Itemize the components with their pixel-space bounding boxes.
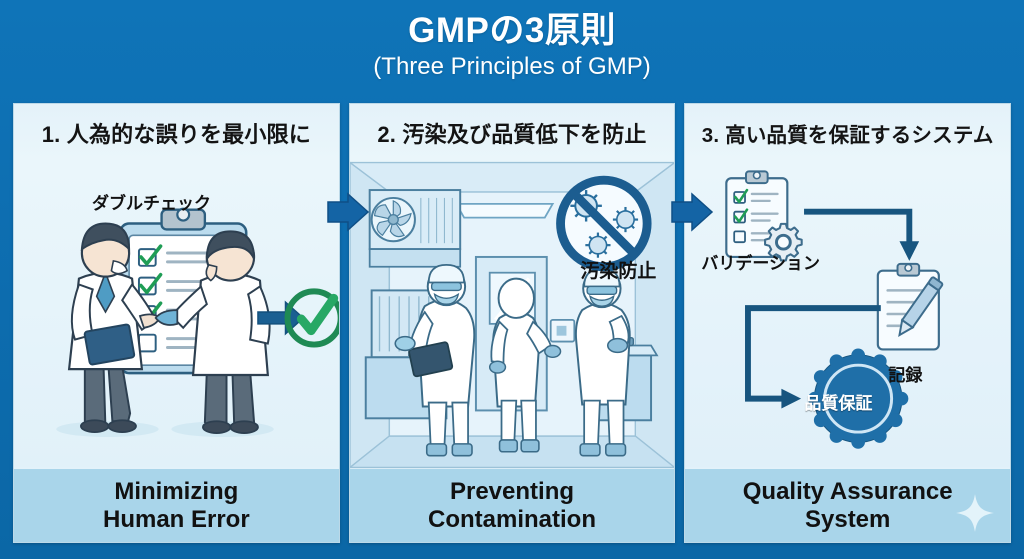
principle-3-caption-line1: Quality Assurance: [743, 478, 953, 505]
principle-panel-1[interactable]: 1. 人為的な誤りを最小限に: [13, 103, 340, 543]
ceiling-light-icon: [456, 204, 552, 218]
quality-assurance-label: 品質保証: [804, 389, 872, 414]
page-subtitle: (Three Principles of GMP): [0, 52, 1024, 82]
principle-1-caption: Minimizing Human Error: [14, 469, 339, 542]
wall-control-panel-icon: [550, 320, 574, 342]
principle-2-caption: Preventing Contamination: [350, 469, 675, 542]
principle-1-caption-line1: Minimizing: [103, 478, 250, 505]
principle-3-caption-line2: System: [743, 506, 953, 533]
principle-2-caption-line2: Contamination: [428, 506, 596, 533]
principle-3-illustration: バリデーション 記録 品質保証: [685, 161, 1010, 469]
principle-3-header: 3. 高い品質を保証するシステム: [685, 104, 1010, 161]
sparkle-icon: [954, 492, 996, 534]
principle-1-header: 1. 人為的な誤りを最小限に: [14, 104, 339, 161]
principle-2-caption-line1: Preventing: [428, 478, 596, 505]
principle-1-caption-line2: Human Error: [103, 506, 250, 533]
validation-label: バリデーション: [701, 249, 820, 274]
clipboard-pen-icon: [878, 264, 943, 350]
double-check-label: ダブルチェック: [92, 189, 211, 214]
principle-panel-2[interactable]: 2. 汚染及び品質低下を防止: [349, 103, 676, 543]
principle-2-illustration: 汚染防止: [350, 161, 675, 469]
gmp-infographic: GMPの3原則 (Three Principles of GMP) 1. 人為的…: [0, 0, 1024, 559]
records-label: 記録: [888, 361, 922, 386]
principle-panel-3[interactable]: 3. 高い品質を保証するシステム: [684, 103, 1011, 543]
hvac-fan-unit-icon: [369, 190, 460, 267]
page-title: GMPの3原則: [0, 10, 1024, 51]
no-germs-prohibition-icon: [560, 180, 647, 267]
title-block: GMPの3原則 (Three Principles of GMP): [0, 10, 1024, 82]
principle-2-header: 2. 汚染及び品質低下を防止: [350, 104, 675, 161]
contamination-prevention-label: 汚染防止: [580, 256, 656, 283]
principle-1-illustration: ダブルチェック: [14, 161, 339, 469]
principle-3-caption: Quality Assurance System: [685, 469, 1010, 542]
principles-panel-row: 1. 人為的な誤りを最小限に: [13, 103, 1011, 543]
